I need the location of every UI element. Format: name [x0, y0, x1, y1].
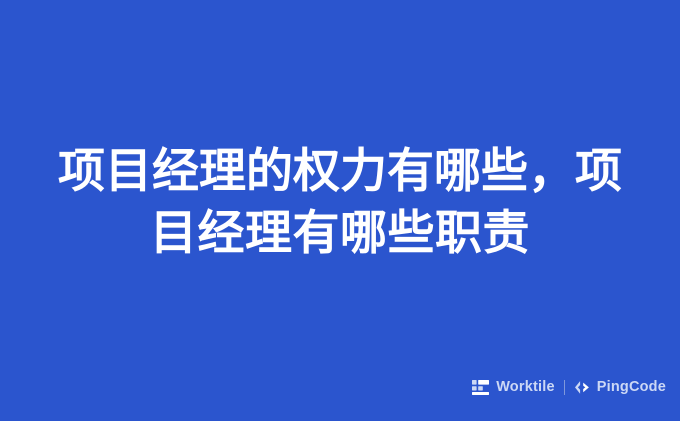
pingcode-chevron-icon: [574, 380, 590, 395]
banner-title: 项目经理的权力有哪些，项 目经理有哪些职责: [0, 140, 680, 264]
brand-footer: Worktile PingCode: [472, 380, 666, 395]
pingcode-wordmark: PingCode: [597, 380, 666, 395]
title-line-1: 项目经理的权力有哪些，项: [16, 140, 664, 202]
brand-divider: [564, 380, 565, 395]
worktile-logo[interactable]: Worktile: [472, 380, 555, 395]
promo-banner: 项目经理的权力有哪些，项 目经理有哪些职责 Worktile: [0, 0, 680, 421]
pingcode-logo[interactable]: PingCode: [574, 380, 666, 395]
worktile-tiles-icon: [472, 380, 489, 395]
worktile-wordmark: Worktile: [496, 380, 555, 395]
title-line-2: 目经理有哪些职责: [16, 202, 664, 264]
